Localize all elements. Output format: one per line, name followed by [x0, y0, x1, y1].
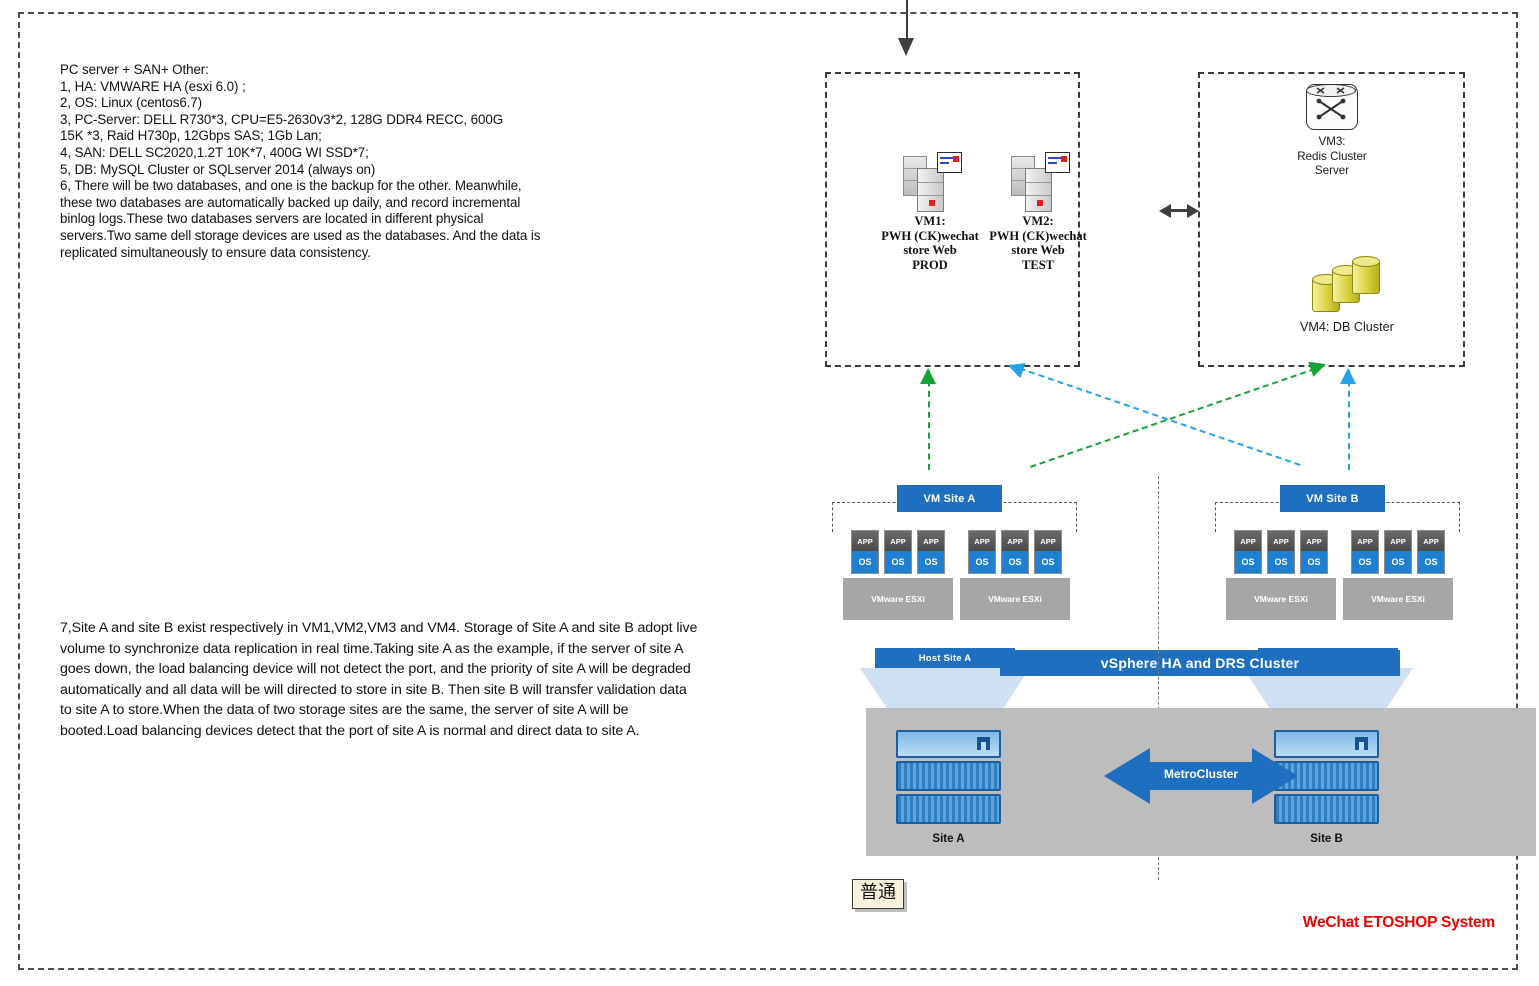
os-label: OS — [851, 551, 879, 574]
storage-controller-icon — [896, 730, 1001, 758]
esxi-host-group: APPOS APPOS APPOS VMware ESXi — [960, 530, 1070, 620]
app-label: APP — [851, 530, 879, 551]
app-label: APP — [1384, 530, 1412, 551]
os-label: OS — [1234, 551, 1262, 574]
esxi-host-group: APPOS APPOS APPOS VMware ESXi — [1343, 530, 1453, 620]
site-b-label: Site B — [1274, 833, 1379, 845]
vm3-label: VM3: Redis Cluster Server — [1272, 135, 1392, 179]
metrocluster-label: MetroCluster — [1104, 767, 1298, 781]
app-label: APP — [1417, 530, 1445, 551]
esxi-host-group: APPOS APPOS APPOS VMware ESXi — [1226, 530, 1336, 620]
os-label: OS — [1034, 551, 1062, 574]
vm2-label: VM2: PWH (CK)wechat store Web TEST — [978, 214, 1098, 272]
site-notes-text: 7,Site A and site B exist respectively i… — [60, 618, 700, 742]
spec-notes-block: PC server + SAN+ Other: 1, HA: VMWARE HA… — [60, 62, 685, 261]
app-label: APP — [968, 530, 996, 551]
os-label: OS — [968, 551, 996, 574]
vm2-node: VM2: PWH (CK)wechat store Web TEST — [978, 150, 1098, 272]
server-icon — [899, 150, 961, 210]
vm4-label: VM4: DB Cluster — [1300, 320, 1480, 334]
vm4-node: VM4: DB Cluster — [1300, 256, 1480, 334]
os-label: OS — [884, 551, 912, 574]
site-a-label: Site A — [896, 833, 1001, 845]
esxi-label: VMware ESXi — [960, 578, 1070, 620]
system-title: WeChat ETOSHOP System — [1303, 914, 1495, 932]
os-label: OS — [1384, 551, 1412, 574]
putong-tooltip: 普通 — [852, 879, 904, 909]
os-label: OS — [1417, 551, 1445, 574]
host-site-a-label: Host Site A — [875, 648, 1015, 668]
app-label: APP — [1267, 530, 1295, 551]
esxi-label: VMware ESXi — [1343, 578, 1453, 620]
vsphere-cluster-label: vSphere HA and DRS Cluster — [1000, 650, 1400, 676]
storage-array-site-a: Site A — [896, 730, 1001, 845]
app-label: APP — [1300, 530, 1328, 551]
vm1-node: VM1: PWH (CK)wechat store Web PROD — [870, 150, 990, 272]
app-label: APP — [1034, 530, 1062, 551]
app-label: APP — [1234, 530, 1262, 551]
redis-cluster-icon — [1306, 84, 1358, 130]
app-label: APP — [1351, 530, 1379, 551]
app-label: APP — [917, 530, 945, 551]
vm-site-b-label: VM Site B — [1280, 485, 1385, 512]
os-label: OS — [1267, 551, 1295, 574]
esxi-host-group: APPOS APPOS APPOS VMware ESXi — [843, 530, 953, 620]
app-label: APP — [1001, 530, 1029, 551]
app-label: APP — [884, 530, 912, 551]
vm-link-double-arrow-icon — [1160, 204, 1198, 218]
incoming-arrow-icon — [905, 0, 909, 56]
spec-notes-text: PC server + SAN+ Other: 1, HA: VMWARE HA… — [60, 62, 685, 261]
os-label: OS — [917, 551, 945, 574]
os-label: OS — [1001, 551, 1029, 574]
server-icon — [1007, 150, 1069, 210]
os-label: OS — [1351, 551, 1379, 574]
os-label: OS — [1300, 551, 1328, 574]
vm3-node: VM3: Redis Cluster Server — [1272, 84, 1392, 179]
vm1-label: VM1: PWH (CK)wechat store Web PROD — [870, 214, 990, 272]
db-cluster-icon — [1310, 256, 1400, 312]
metrocluster-arrow: MetroCluster — [1104, 748, 1298, 804]
vm-site-a-label: VM Site A — [897, 485, 1002, 512]
site-notes-block: 7,Site A and site B exist respectively i… — [60, 618, 700, 742]
esxi-label: VMware ESXi — [843, 578, 953, 620]
esxi-label: VMware ESXi — [1226, 578, 1336, 620]
